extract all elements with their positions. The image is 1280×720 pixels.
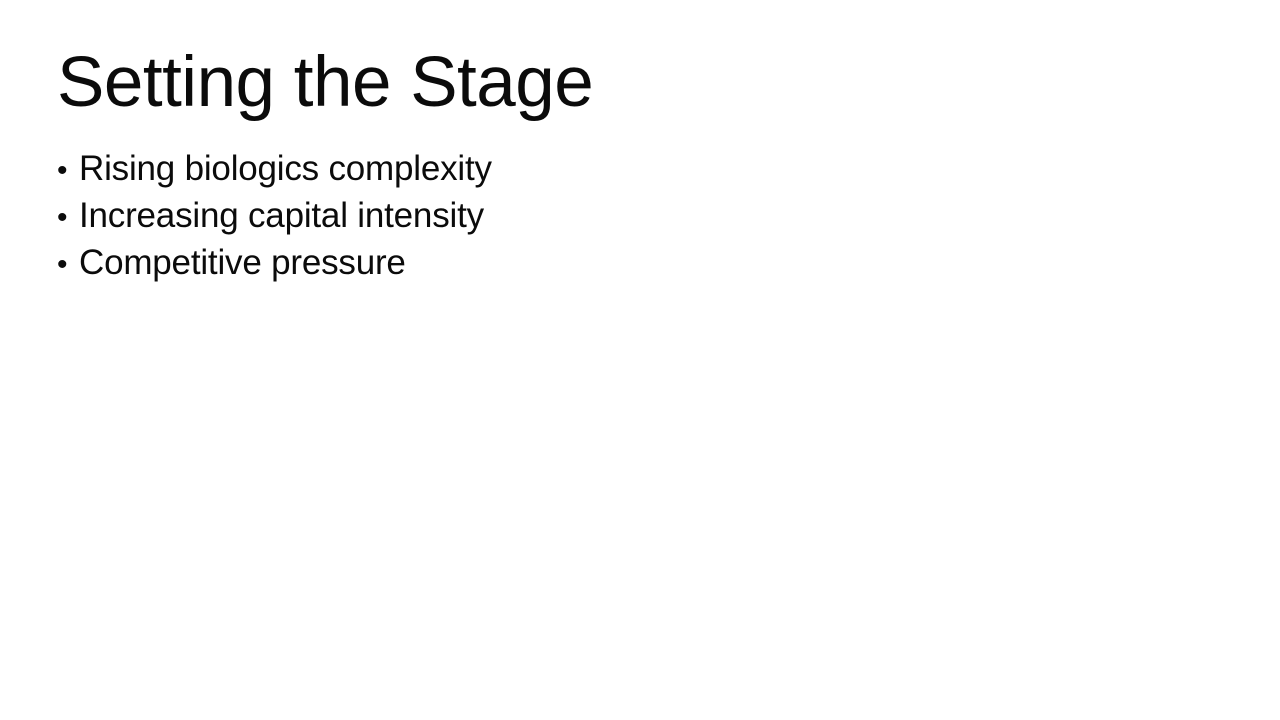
presentation-slide: Setting the Stage • Rising biologics com… bbox=[0, 0, 1280, 720]
list-item-label: Increasing capital intensity bbox=[79, 192, 484, 239]
list-item: • Increasing capital intensity bbox=[57, 192, 492, 239]
bullet-list: • Rising biologics complexity • Increasi… bbox=[57, 145, 492, 286]
bullet-point-icon: • bbox=[57, 147, 79, 194]
list-item-label: Competitive pressure bbox=[79, 239, 406, 286]
page-title: Setting the Stage bbox=[57, 47, 593, 118]
bullet-point-icon: • bbox=[57, 241, 79, 288]
bullet-point-icon: • bbox=[57, 194, 79, 241]
list-item-label: Rising biologics complexity bbox=[79, 145, 492, 192]
list-item: • Competitive pressure bbox=[57, 239, 492, 286]
list-item: • Rising biologics complexity bbox=[57, 145, 492, 192]
